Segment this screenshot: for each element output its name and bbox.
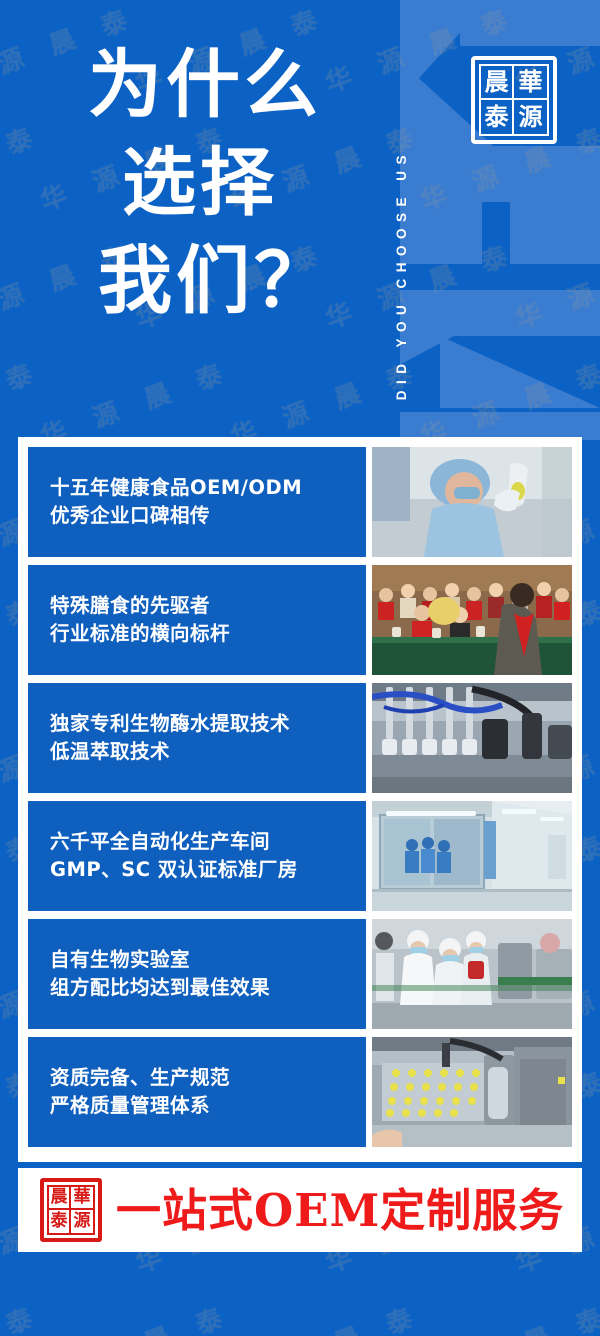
photo-filling-machine — [372, 683, 572, 793]
footer-banner: 晨 華 泰 源 一站式OEM定制服务 — [18, 1168, 582, 1252]
feature-line2-6: 严格质量管理体系 — [50, 1092, 366, 1120]
feature-line1-4: 六千平全自动化生产车间 — [50, 828, 366, 856]
feature-row-3: 独家专利生物酶水提取技术 低温萃取技术 — [28, 683, 572, 793]
title-line-2: 选择 — [122, 146, 390, 220]
features-panel: 十五年健康食品OEM/ODM 优秀企业口碑相传 — [18, 437, 582, 1162]
seal-char-bl: 泰 — [481, 100, 514, 134]
feature-line1-1: 十五年健康食品OEM/ODM — [50, 474, 366, 502]
photo-conference-audience — [372, 565, 572, 675]
watermark-text: 华 源 晨 泰 — [0, 1295, 46, 1336]
shape-bar-bottom — [400, 412, 600, 440]
photo-lab-technician — [372, 447, 572, 557]
photo-cleanroom-corridor — [372, 801, 572, 911]
feature-row-6: 资质完备、生产规范 严格质量管理体系 — [28, 1037, 572, 1147]
shape-why-diag-4 — [440, 336, 600, 408]
feature-line2-1: 优秀企业口碑相传 — [50, 502, 366, 530]
watermark-text: 华 源 晨 泰 — [225, 1295, 427, 1336]
seal-char-tl: 晨 — [481, 66, 514, 100]
feature-photo-3 — [372, 683, 572, 793]
feature-line2-5: 组方配比均达到最佳效果 — [50, 974, 366, 1002]
title-line-3: 我们？ — [98, 244, 390, 318]
feature-photo-6 — [372, 1037, 572, 1147]
title-line-1: 为什么 — [88, 48, 390, 122]
seal-char-br: 源 — [514, 100, 547, 134]
footer-seal-char-br: 源 — [71, 1210, 93, 1233]
photo-lab-workers — [372, 919, 572, 1029]
feature-text-2: 特殊膳食的先驱者 行业标准的横向标杆 — [28, 565, 366, 675]
footer-seal-icon: 晨 華 泰 源 — [40, 1178, 102, 1242]
feature-photo-5 — [372, 919, 572, 1029]
feature-line2-4: GMP、SC 双认证标准厂房 — [50, 856, 366, 884]
seal-char-tr: 華 — [514, 66, 547, 100]
feature-row-5: 自有生物实验室 组方配比均达到最佳效果 — [28, 919, 572, 1029]
brand-seal-icon: 晨 華 泰 源 — [471, 56, 557, 144]
watermark-text: 华 源 晨 泰 — [35, 1295, 237, 1336]
feature-text-6: 资质完备、生产规范 严格质量管理体系 — [28, 1037, 366, 1147]
feature-photo-1 — [372, 447, 572, 557]
feature-line2-2: 行业标准的横向标杆 — [50, 620, 366, 648]
feature-photo-4 — [372, 801, 572, 911]
photo-blister-packing — [372, 1037, 572, 1147]
feature-text-1: 十五年健康食品OEM/ODM 优秀企业口碑相传 — [28, 447, 366, 557]
feature-row-4: 六千平全自动化生产车间 GMP、SC 双认证标准厂房 — [28, 801, 572, 911]
feature-row-2: 特殊膳食的先驱者 行业标准的横向标杆 — [28, 565, 572, 675]
feature-line1-3: 独家专利生物酶水提取技术 — [50, 710, 366, 738]
feature-photo-2 — [372, 565, 572, 675]
footer-seal-char-tl: 晨 — [49, 1187, 71, 1210]
feature-text-5: 自有生物实验室 组方配比均达到最佳效果 — [28, 919, 366, 1029]
shape-why-stroke-2 — [400, 146, 600, 202]
poster-root: DID YOU CHOOSE US 晨 華 泰 源 为什么 选择 我们？ 十五年… — [0, 0, 600, 1336]
footer-seal-char-tr: 華 — [71, 1187, 93, 1210]
footer-seal-char-bl: 泰 — [49, 1210, 71, 1233]
feature-line1-5: 自有生物实验室 — [50, 946, 366, 974]
shape-why-stroke-4 — [510, 202, 600, 264]
watermark-text: 华 源 晨 泰 — [415, 1295, 600, 1336]
feature-line1-2: 特殊膳食的先驱者 — [50, 592, 366, 620]
footer-slogan: 一站式OEM定制服务 — [116, 1188, 564, 1233]
feature-row-1: 十五年健康食品OEM/ODM 优秀企业口碑相传 — [28, 447, 572, 557]
feature-text-3: 独家专利生物酶水提取技术 低温萃取技术 — [28, 683, 366, 793]
feature-line1-6: 资质完备、生产规范 — [50, 1064, 366, 1092]
vertical-english-text: DID YOU CHOOSE US — [394, 149, 409, 400]
page-title: 为什么 选择 我们？ — [0, 48, 390, 318]
feature-line2-3: 低温萃取技术 — [50, 738, 366, 766]
feature-text-4: 六千平全自动化生产车间 GMP、SC 双认证标准厂房 — [28, 801, 366, 911]
